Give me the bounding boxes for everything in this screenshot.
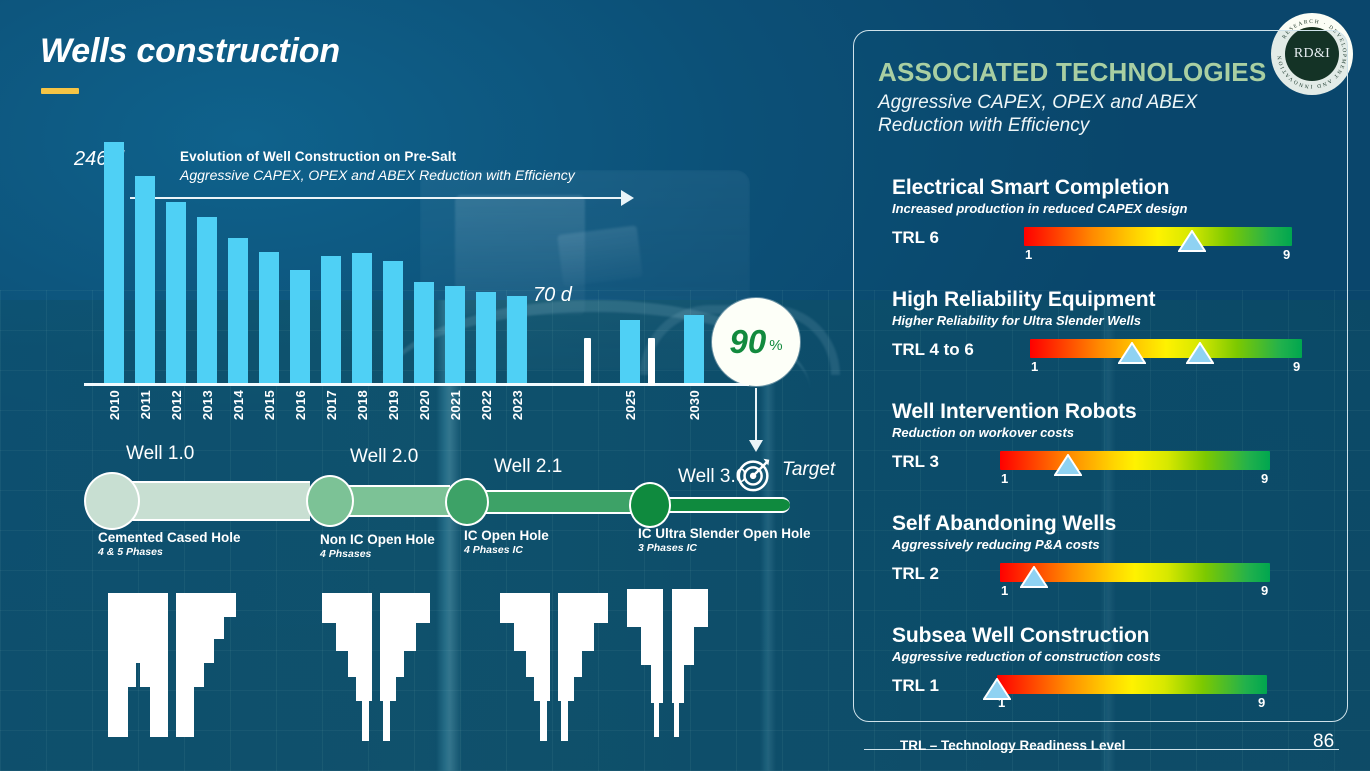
badge-down-arrow-line: [755, 388, 757, 443]
well-casing-schematics: [100, 585, 750, 750]
trl-marker-6[interactable]: [1178, 230, 1206, 258]
timeline-pipe-segment-4: [650, 497, 790, 513]
trl-gradient-bar: [1000, 451, 1270, 470]
technology-item: Electrical Smart CompletionIncreased pro…: [892, 176, 1322, 258]
trl-scale-row: TRL 319: [892, 448, 1322, 482]
well-schematic-group: [100, 585, 750, 750]
chart-bar-2014: [228, 238, 248, 384]
chart-bar-2016: [290, 270, 310, 384]
technology-item: Self Abandoning WellsAggressively reduci…: [892, 512, 1322, 594]
timeline-stage-name: Non IC Open Hole: [320, 532, 435, 547]
trl-level-label: TRL 1: [892, 676, 939, 696]
trl-marker-1[interactable]: [983, 678, 1011, 706]
reduction-badge: 90 %: [712, 298, 800, 386]
chart-bar-2030: [684, 315, 704, 384]
chart-x-label-2025: 2025: [623, 390, 638, 420]
well-construction-bar-chart: 246 d 70 d Evolution of Well Constructio…: [70, 140, 770, 440]
technology-name: High Reliability Equipment: [892, 288, 1322, 312]
trl-level-label: TRL 6: [892, 228, 939, 248]
chart-x-label-2012: 2012: [169, 390, 184, 420]
trl-marker-6[interactable]: [1186, 342, 1214, 370]
timeline-stage-phases: 4 Phsases: [320, 548, 371, 560]
technology-description: Reduction on workover costs: [892, 425, 1322, 440]
technology-description: Increased production in reduced CAPEX de…: [892, 201, 1322, 216]
trl-scale-max: 9: [1258, 695, 1265, 710]
technology-description: Aggressive reduction of construction cos…: [892, 649, 1322, 664]
axis-break-mark: [584, 338, 591, 386]
timeline-stage-title: Well 3.0: [678, 466, 746, 488]
technology-item: High Reliability EquipmentHigher Reliabi…: [892, 288, 1322, 370]
chart-x-label-2013: 2013: [200, 390, 215, 420]
trl-scale-max: 9: [1283, 247, 1290, 262]
trl-marker-4[interactable]: [1118, 342, 1146, 370]
chart-x-label-2016: 2016: [293, 390, 308, 420]
trl-scale-min: 1: [1025, 247, 1032, 262]
chart-x-label-2015: 2015: [262, 390, 277, 420]
trl-marker-3[interactable]: [1054, 454, 1082, 482]
technology-name: Self Abandoning Wells: [892, 512, 1322, 536]
chart-x-label-2030: 2030: [687, 390, 702, 420]
title-accent-rule: [41, 88, 79, 94]
trl-gradient-bar: [997, 675, 1267, 694]
trl-gradient-bar: [1030, 339, 1302, 358]
panel-title: ASSOCIATED TECHNOLOGIES: [878, 57, 1266, 88]
technology-item: Well Intervention RobotsReduction on wor…: [892, 400, 1322, 482]
trl-level-label: TRL 4 to 6: [892, 340, 974, 360]
timeline-node-4[interactable]: [629, 482, 671, 528]
trl-level-label: TRL 3: [892, 452, 939, 472]
technology-item: Subsea Well ConstructionAggressive reduc…: [892, 624, 1322, 706]
trl-scale-max: 9: [1261, 471, 1268, 486]
trl-scale-row: TRL 119: [892, 672, 1322, 706]
chart-bar-2021: [445, 286, 465, 384]
well-evolution-timeline: Well 1.0Cemented Cased Hole4 & 5 PhasesW…: [78, 438, 838, 558]
timeline-pipe-segment-1: [112, 481, 310, 521]
timeline-stage-title: Well 1.0: [126, 443, 194, 465]
chart-bar-2025: [620, 320, 640, 384]
trl-scale-row: TRL 619: [892, 224, 1322, 258]
trl-scale-max: 9: [1293, 359, 1300, 374]
trl-scale-row: TRL 219: [892, 560, 1322, 594]
associated-technologies-panel: ASSOCIATED TECHNOLOGIES Aggressive CAPEX…: [853, 30, 1348, 722]
timeline-stage-name: IC Ultra Slender Open Hole: [638, 526, 811, 541]
timeline-stage-phases: 4 Phases IC: [464, 544, 523, 556]
technology-name: Electrical Smart Completion: [892, 176, 1322, 200]
chart-bar-2017: [321, 256, 341, 384]
timeline-node-1[interactable]: [84, 472, 140, 530]
timeline-pipe-segment-3: [467, 490, 634, 514]
chart-x-label-2018: 2018: [355, 390, 370, 420]
trl-footnote: TRL – Technology Readiness Level: [900, 738, 1125, 753]
chart-bar-2012: [166, 202, 186, 384]
chart-x-label-2017: 2017: [324, 390, 339, 420]
chart-bar-2023: [507, 296, 527, 384]
timeline-stage-name: Cemented Cased Hole: [98, 530, 241, 545]
page-number: 86: [1313, 731, 1334, 753]
trl-gradient-bar: [1024, 227, 1292, 246]
trl-scale-min: 1: [1001, 471, 1008, 486]
technology-name: Well Intervention Robots: [892, 400, 1322, 424]
chart-bars: [86, 140, 766, 384]
axis-break-mark: [648, 338, 655, 386]
chart-bar-2011: [135, 176, 155, 384]
chart-x-label-2019: 2019: [386, 390, 401, 420]
chart-bar-2022: [476, 292, 496, 384]
timeline-stage-phases: 4 & 5 Phases: [98, 546, 163, 558]
chart-x-label-2020: 2020: [417, 390, 432, 420]
technology-description: Aggressively reducing P&A costs: [892, 537, 1322, 552]
timeline-stage-title: Well 2.0: [350, 446, 418, 468]
chart-bar-2010: [104, 142, 124, 384]
chart-x-label-2022: 2022: [479, 390, 494, 420]
chart-x-label-2023: 2023: [510, 390, 525, 420]
chart-bar-2013: [197, 217, 217, 384]
trl-marker-2[interactable]: [1020, 566, 1048, 594]
reduction-percent-symbol: %: [769, 337, 782, 354]
timeline-node-3[interactable]: [445, 478, 489, 526]
trl-scale-row: TRL 4 to 619: [892, 336, 1322, 370]
trl-level-label: TRL 2: [892, 564, 939, 584]
timeline-stage-name: IC Open Hole: [464, 528, 549, 543]
timeline-stage-phases: 3 Phases IC: [638, 542, 697, 554]
chart-bar-2019: [383, 261, 403, 384]
chart-x-label-2014: 2014: [231, 390, 246, 420]
chart-bar-2018: [352, 253, 372, 384]
timeline-stage-title: Well 2.1: [494, 456, 562, 478]
chart-x-label-2010: 2010: [107, 390, 122, 420]
technology-name: Subsea Well Construction: [892, 624, 1322, 648]
chart-x-label-2021: 2021: [448, 390, 463, 420]
trl-scale-min: 1: [1031, 359, 1038, 374]
trl-scale-min: 1: [1001, 583, 1008, 598]
panel-subtitle: Aggressive CAPEX, OPEX and ABEX Reductio…: [878, 91, 1248, 137]
timeline-node-2[interactable]: [306, 475, 354, 527]
chart-x-label-2011: 2011: [138, 390, 153, 419]
chart-bar-2020: [414, 282, 434, 384]
chart-bar-2015: [259, 252, 279, 384]
technology-description: Higher Reliability for Ultra Slender Wel…: [892, 313, 1322, 328]
reduction-value: 90: [729, 323, 766, 361]
trl-scale-max: 9: [1261, 583, 1268, 598]
page-title: Wells construction: [40, 32, 340, 71]
